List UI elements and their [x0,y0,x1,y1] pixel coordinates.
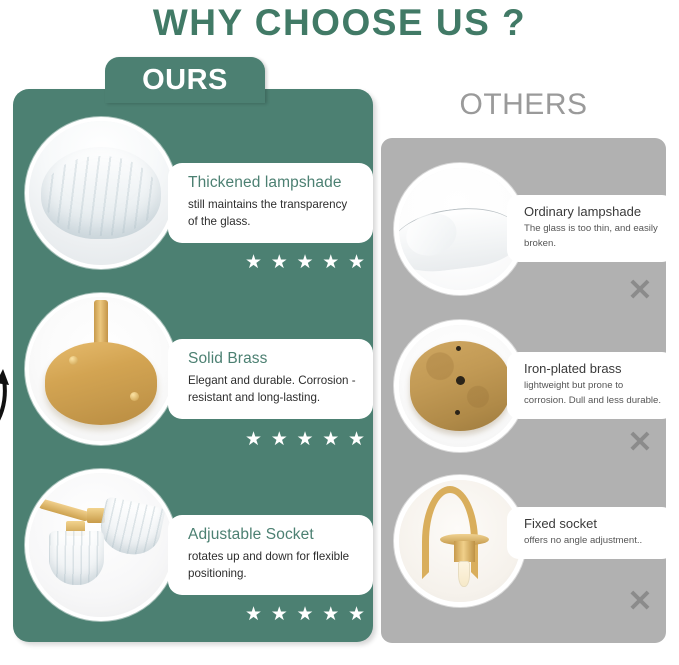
star-icon: ★ [271,251,288,274]
solid-brass-canopy-photo [25,293,177,445]
rotation-arrow-icon [0,353,17,463]
star-icon: ★ [271,428,288,451]
star-rating: ★ ★ ★ ★ ★ [245,251,365,274]
star-icon: ★ [271,603,288,626]
ours-feature-heading: Thickened lampshade [188,174,359,192]
star-icon: ★ [245,428,262,451]
ours-feature-heading: Adjustable Socket [188,526,359,544]
others-feature-bubble: Ordinary lampshade The glass is too thin… [507,195,674,262]
ours-feature-bubble: Solid Brass Elegant and durable. Corrosi… [168,339,373,419]
star-icon: ★ [296,251,313,274]
ours-feature-heading: Solid Brass [188,350,359,368]
star-icon: ★ [245,603,262,626]
cross-icon: ✕ [626,278,654,306]
others-feature-heading: Fixed socket [524,516,664,531]
others-feature-bubble: Iron-plated brass lightweight but prone … [507,352,674,419]
others-feature-description: lightweight but prone to corrosion. Dull… [524,379,664,409]
star-icon: ★ [296,428,313,451]
ours-feature-description: Elegant and durable. Corrosion -resistan… [188,372,359,407]
ours-tab-label: OURS [105,57,265,103]
ours-feature-bubble: Thickened lampshade still maintains the … [168,163,373,243]
star-rating: ★ ★ ★ ★ ★ [245,428,365,451]
star-icon: ★ [322,251,339,274]
cross-icon: ✕ [626,589,654,617]
page-title: WHY CHOOSE US ? [0,2,679,44]
star-icon: ★ [245,251,262,274]
star-icon: ★ [296,603,313,626]
others-feature-bubble: Fixed socket offers no angle adjustment.… [507,507,674,559]
adjustable-socket-photo [25,469,177,621]
star-rating: ★ ★ ★ ★ ★ [245,603,365,626]
others-feature-description: offers no angle adjustment.. [524,534,664,549]
star-icon: ★ [322,603,339,626]
star-icon: ★ [322,428,339,451]
star-icon: ★ [348,251,365,274]
cross-icon: ✕ [626,430,654,458]
ours-feature-description: rotates up and down for flexible positio… [188,548,359,583]
others-feature-heading: Ordinary lampshade [524,204,664,219]
star-icon: ★ [348,428,365,451]
fluted-glass-lampshade-photo [25,117,177,269]
others-feature-description: The glass is too thin, and easily broken… [524,222,664,252]
others-feature-heading: Iron-plated brass [524,361,664,376]
others-title: OTHERS [381,88,666,122]
ours-feature-bubble: Adjustable Socket rotates up and down fo… [168,515,373,595]
ours-feature-description: still maintains the transparency of the … [188,196,359,231]
star-icon: ★ [348,603,365,626]
